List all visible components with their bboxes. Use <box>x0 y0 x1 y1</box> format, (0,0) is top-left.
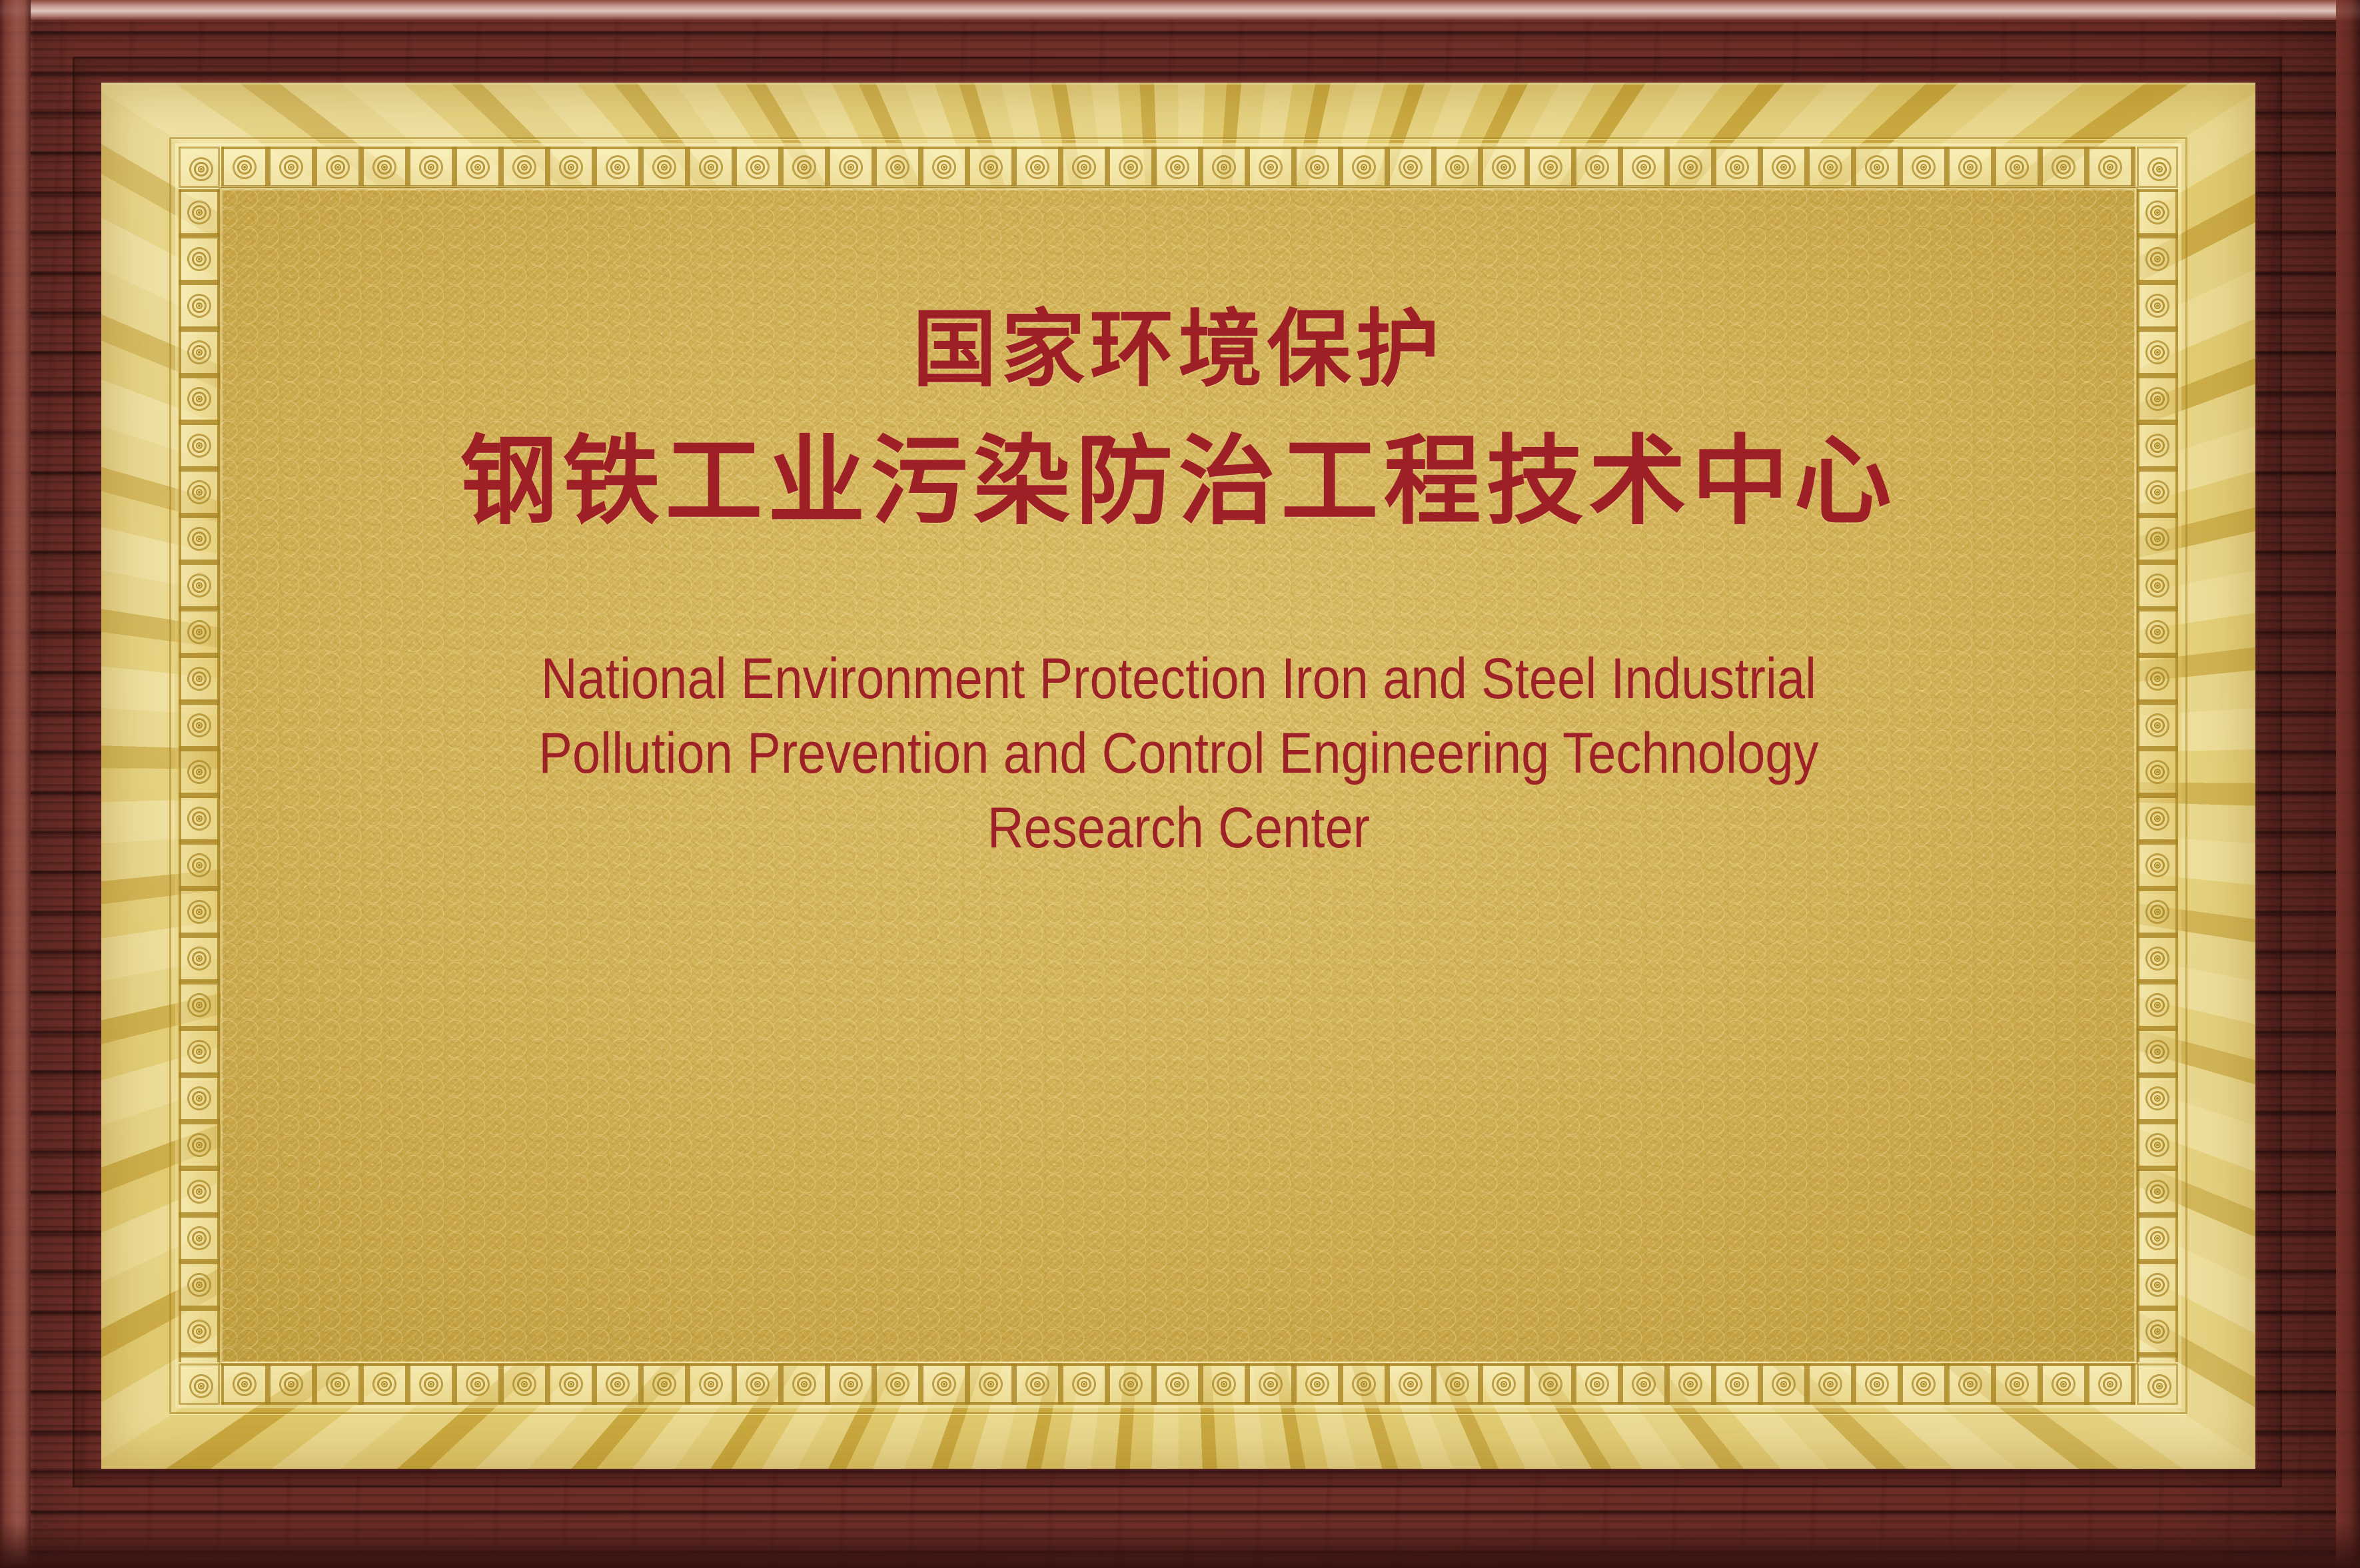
plaque-title-english: National Environment Protection Iron and… <box>419 642 1938 865</box>
plaque-title-english-line-2: Pollution Prevention and Control Enginee… <box>419 717 1938 791</box>
plaque-title-chinese-line-1: 国家环境保护 <box>913 308 1445 392</box>
award-plaque: 国家环境保护 钢铁工业污染防治工程技术中心 National Environme… <box>0 0 2360 1568</box>
meander-strip-top <box>221 147 2135 188</box>
frame-bottom-shadow <box>0 1521 2360 1568</box>
plaque-title-english-line-3: Research Center <box>419 791 1938 866</box>
meander-corner-top-left <box>179 147 220 188</box>
gold-award-plate: 国家环境保护 钢铁工业污染防治工程技术中心 National Environme… <box>101 83 2255 1469</box>
meander-strip-left <box>179 189 220 1362</box>
frame-left-bevel-highlight <box>0 0 31 1568</box>
frame-right-bevel-shadow <box>2336 0 2360 1568</box>
plaque-text-stack: 国家环境保护 钢铁工业污染防治工程技术中心 National Environme… <box>221 189 2135 1362</box>
meander-corner-bottom-left <box>179 1364 220 1405</box>
plaque-title-english-line-1: National Environment Protection Iron and… <box>419 642 1938 717</box>
meander-corner-bottom-right <box>2137 1364 2178 1405</box>
meander-corner-top-right <box>2137 147 2178 188</box>
frame-top-bevel-highlight <box>0 0 2360 20</box>
textured-gold-field: 国家环境保护 钢铁工业污染防治工程技术中心 National Environme… <box>221 189 2135 1362</box>
meander-strip-bottom <box>221 1364 2135 1405</box>
meander-strip-right <box>2137 189 2178 1362</box>
plaque-title-chinese-line-2: 钢铁工业污染防治工程技术中心 <box>460 433 1896 530</box>
